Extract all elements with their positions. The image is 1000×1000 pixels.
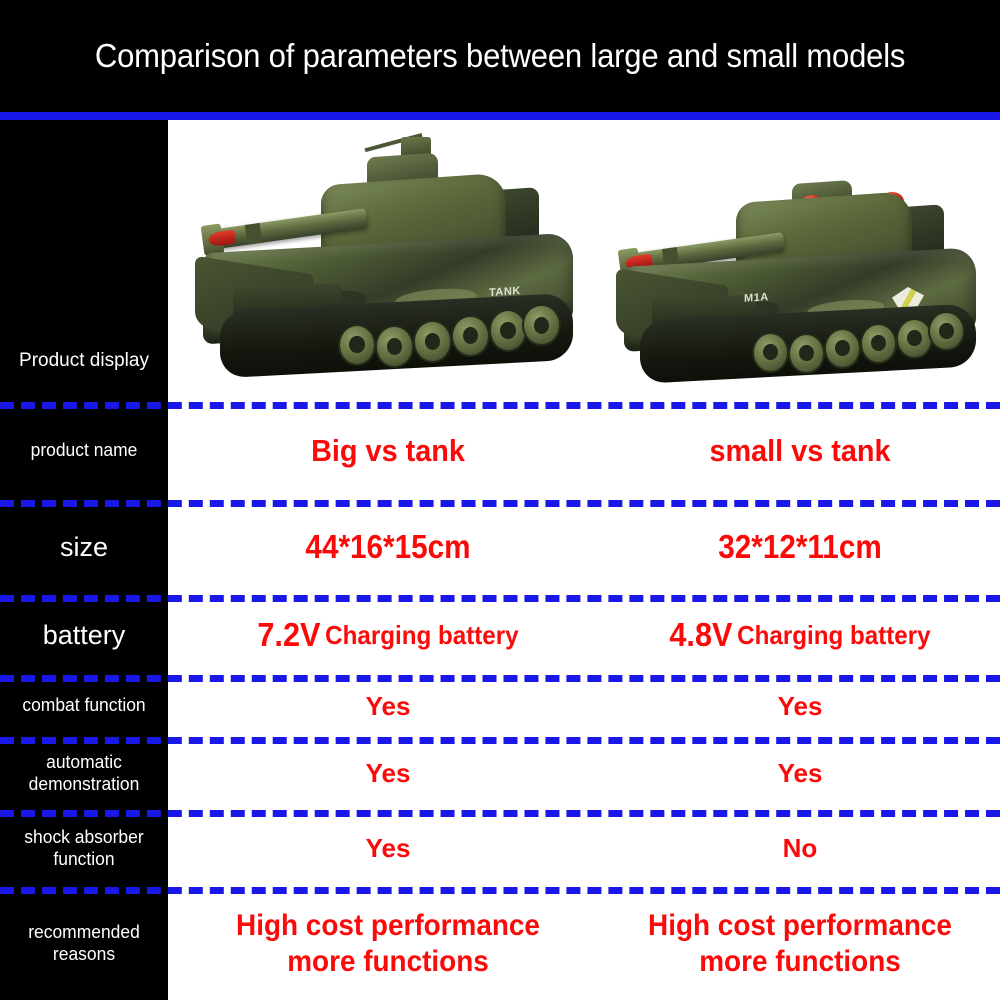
cell-automatic-demonstration-small: Yes — [600, 737, 1000, 810]
reason-line-1: High cost performance — [236, 908, 540, 943]
comparison-table-page: Comparison of parameters between large a… — [0, 0, 1000, 1000]
row-label-recommended-reasons: recommended reasons — [3, 887, 166, 1000]
header-blue-rule — [0, 112, 1000, 120]
small-tank-image: M1A — [600, 142, 1000, 392]
cell-product-name-big: Big vs tank — [193, 402, 584, 500]
hull-decal: M1A — [744, 291, 769, 305]
cell-shock-absorber-small: No — [600, 810, 1000, 887]
row-label-line-1: recommended — [28, 922, 140, 944]
row-label-product-name: product name — [3, 402, 166, 500]
row-label-line-1: automatic — [46, 752, 122, 774]
row-label-line-2: function — [53, 849, 114, 871]
comparison-table: Product display — [0, 120, 1000, 1000]
cell-battery-small: 4.8VCharging battery — [614, 595, 986, 675]
row-label-automatic-demonstration: automatic demonstration — [3, 737, 166, 810]
row-label-combat-function: combat function — [3, 675, 166, 737]
cell-battery-big: 7.2VCharging battery — [193, 595, 584, 675]
cell-recommended-reasons-small: High cost performance more functions — [614, 887, 986, 1000]
page-header: Comparison of parameters between large a… — [0, 0, 1000, 112]
cell-combat-function-small: Yes — [600, 675, 1000, 737]
cell-automatic-demonstration-big: Yes — [178, 737, 598, 810]
page-title: Comparison of parameters between large a… — [95, 37, 905, 75]
battery-type-big: Charging battery — [325, 620, 518, 651]
battery-voltage-big: 7.2V — [257, 616, 320, 655]
reason-line-2: more functions — [287, 944, 489, 979]
reason-line-2: more functions — [699, 944, 901, 979]
cell-size-small: 32*12*11cm — [620, 500, 980, 595]
row-label-size: size — [0, 500, 168, 595]
row-label-line-2: demonstration — [29, 774, 140, 796]
row-label-battery: battery — [0, 595, 168, 675]
cell-combat-function-big: Yes — [178, 675, 598, 737]
cell-product-name-small: small vs tank — [614, 402, 986, 500]
cell-size-big: 44*16*15cm — [199, 500, 577, 595]
reason-line-1: High cost performance — [648, 908, 952, 943]
row-label-line-1: shock absorber — [24, 827, 143, 849]
cell-recommended-reasons-big: High cost performance more functions — [193, 887, 584, 1000]
row-label-line-2: reasons — [53, 944, 115, 966]
cell-shock-absorber-big: Yes — [178, 810, 598, 887]
big-tank-image: TANK — [178, 120, 598, 388]
row-label-shock-absorber-function: shock absorber function — [3, 810, 166, 887]
battery-type-small: Charging battery — [737, 620, 930, 651]
battery-voltage-small: 4.8V — [669, 616, 732, 655]
row-label-product-display: Product display — [0, 320, 168, 402]
